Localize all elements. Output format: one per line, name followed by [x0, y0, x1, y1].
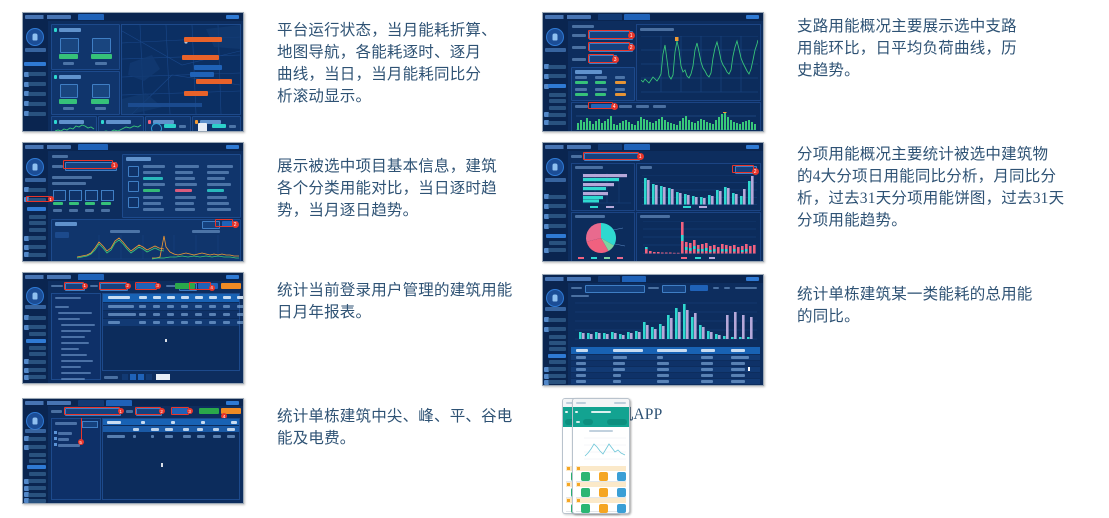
- org-logo-icon: [546, 158, 564, 176]
- last-page-button[interactable]: [146, 374, 152, 380]
- sidebar-item-5[interactable]: [28, 493, 46, 497]
- table-row[interactable]: [571, 355, 760, 360]
- callout-number-2: 2: [752, 168, 759, 175]
- phone-meter-card-2[interactable]: [576, 482, 626, 498]
- group-header: [141, 421, 145, 424]
- map-panel[interactable]: [121, 24, 241, 115]
- sidebar-subitem-3[interactable]: [29, 352, 46, 356]
- kpi-value-month: [212, 124, 226, 128]
- sidebar-item-1[interactable]: [548, 65, 566, 69]
- phone-screenshot-3[interactable]: [572, 398, 630, 514]
- tab-active[interactable]: [624, 144, 650, 150]
- table-row[interactable]: [571, 373, 760, 378]
- topbar-button[interactable]: [746, 15, 759, 20]
- toolbar-label-1: [571, 287, 582, 290]
- next-page-button[interactable]: [138, 374, 144, 380]
- toolbar-label-2: [126, 410, 133, 413]
- column-header: [195, 296, 203, 299]
- select-building[interactable]: [585, 285, 645, 293]
- toolbar-label-1: [51, 410, 62, 413]
- sidebar-item-4[interactable]: [28, 486, 46, 490]
- callout-number-2: 2: [125, 283, 131, 289]
- water-icon: [128, 181, 139, 192]
- callout-box-1: [64, 282, 84, 290]
- export-button[interactable]: [199, 408, 219, 414]
- tab-history-year: [636, 105, 649, 108]
- sidebar-item-5[interactable]: [548, 380, 566, 384]
- kpi-value-1: [59, 54, 78, 59]
- phone-back-icon[interactable]: [575, 411, 578, 413]
- history-bar-chart: [576, 112, 756, 130]
- tab-inactive[interactable]: [598, 144, 622, 150]
- cell: [175, 171, 193, 174]
- trend-title-left: [110, 230, 140, 233]
- tree-expand-icon[interactable]: [54, 443, 57, 446]
- sidebar-item-4[interactable]: [548, 374, 566, 378]
- toolbar-label-5: [735, 287, 757, 290]
- sidebar-item-1[interactable]: [28, 72, 46, 76]
- sidebar-item-6[interactable]: [28, 499, 46, 503]
- cell: [175, 165, 199, 168]
- sidebar-subitem-2[interactable]: [549, 99, 566, 103]
- pagination[interactable]: [102, 373, 240, 381]
- cell: [139, 321, 146, 324]
- screenshot-project-basic-info[interactable]: 1: [22, 142, 244, 262]
- green-status-icon: [581, 488, 590, 497]
- sidebar-item-3[interactable]: [548, 214, 566, 218]
- table-row[interactable]: [571, 361, 760, 366]
- callout-number-1: 1: [637, 153, 644, 160]
- cell: [731, 356, 749, 359]
- column-header: [576, 349, 588, 352]
- cell: [108, 305, 134, 308]
- sidebar-item-3[interactable]: [28, 360, 46, 364]
- building-tree[interactable]: [51, 418, 101, 500]
- tree-filter-button[interactable]: [82, 421, 98, 428]
- cell: [143, 189, 160, 192]
- callout-box-1: [588, 30, 630, 39]
- cell: [165, 435, 173, 438]
- sidebar-subitem-1[interactable]: [549, 93, 566, 97]
- tab-active[interactable]: [78, 274, 104, 280]
- callout-box-side: [26, 196, 50, 202]
- sidebar-item-4[interactable]: [28, 102, 46, 106]
- stat-1: [53, 202, 63, 205]
- sidebar-subitem-1[interactable]: [549, 241, 566, 245]
- cell: [207, 177, 225, 180]
- sidebar-subitem-1[interactable]: [29, 215, 46, 219]
- app-topbar: [23, 13, 243, 21]
- cell: [207, 183, 231, 186]
- warning-icon: [567, 483, 570, 486]
- tree-toolbar: [55, 422, 77, 425]
- tree-expand-icon[interactable]: [54, 437, 57, 440]
- tab-active[interactable]: [622, 276, 646, 282]
- topbar-button[interactable]: [226, 145, 239, 150]
- screenshot-energy-report[interactable]: 1 2 3 4: [22, 272, 244, 384]
- phone-meter-card-3[interactable]: [576, 498, 626, 512]
- column-header: [181, 296, 189, 299]
- phone-card-header: [576, 498, 626, 503]
- sidebar-subitem-2[interactable]: [549, 341, 566, 345]
- tab-inactive[interactable]: [78, 400, 104, 406]
- callout-box-1: [63, 160, 113, 169]
- app-logo-icon: [545, 15, 591, 19]
- filter-label-2: [572, 46, 586, 49]
- card-bullet-icon: [54, 28, 57, 32]
- table-row[interactable]: [571, 379, 760, 384]
- yoy-table[interactable]: [571, 347, 760, 383]
- sidebar-item-subitem[interactable]: [546, 234, 566, 238]
- cell: [195, 313, 202, 316]
- select-type[interactable]: [662, 285, 686, 293]
- tab-inactive[interactable]: [598, 14, 622, 20]
- sidebar-item-2[interactable]: [548, 204, 566, 208]
- sidebar-subitem-2[interactable]: [29, 221, 46, 225]
- column-header: [223, 296, 231, 299]
- topbar-button[interactable]: [746, 277, 759, 282]
- callout-box-3: [171, 407, 189, 415]
- map-pin-4[interactable]: [190, 72, 214, 77]
- column-header: [731, 349, 745, 352]
- mouse-cursor: [161, 463, 163, 467]
- cell: [576, 380, 586, 383]
- cell: [181, 321, 188, 324]
- callout-number-3: 3: [187, 408, 193, 414]
- sidebar-subitem-1[interactable]: [29, 453, 46, 457]
- app-logo-icon: [545, 277, 591, 281]
- kpi-value-2: [91, 54, 112, 59]
- kpi-label-e: [595, 88, 607, 91]
- kpi-label-b: [595, 76, 607, 79]
- sidebar-item-home[interactable]: [24, 62, 46, 66]
- cell: [223, 305, 230, 308]
- kpi-card-energy: [51, 24, 120, 70]
- topbar-button[interactable]: [226, 401, 239, 406]
- sidebar-item-1[interactable]: [28, 316, 46, 320]
- sidebar-item-2[interactable]: [28, 82, 46, 86]
- sidebar-item-2[interactable]: [28, 325, 46, 329]
- phone-filter-bar[interactable]: [573, 417, 629, 427]
- kpi-d: [575, 93, 588, 96]
- sidebar-item-1[interactable]: [548, 195, 566, 199]
- cell: [223, 321, 230, 324]
- callout-box-3: [588, 54, 614, 63]
- orange-status-icon: [599, 504, 608, 513]
- sidebar: [543, 283, 568, 385]
- trend-legend-button[interactable]: [55, 232, 69, 238]
- sidebar-item-4[interactable]: [548, 121, 566, 125]
- cell: [195, 305, 202, 308]
- callout-box-2: [99, 282, 127, 290]
- card-bullet-icon: [54, 120, 57, 124]
- sidebar-item-5[interactable]: [28, 253, 46, 257]
- query-button[interactable]: [690, 285, 708, 291]
- callout-number-3: 3: [612, 56, 619, 63]
- phone-meter-card-1[interactable]: [576, 466, 626, 482]
- kpi-c: [615, 81, 626, 84]
- calendar-icon: [198, 123, 207, 132]
- group-header: [201, 421, 205, 424]
- cell: [143, 177, 163, 180]
- column-header: [613, 349, 643, 352]
- map-pin-1[interactable]: [184, 37, 222, 42]
- map-pin-2[interactable]: [182, 55, 219, 60]
- sidebar-item-project[interactable]: [27, 207, 46, 211]
- sidebar-item-5[interactable]: [548, 248, 566, 252]
- mini-line-chart: [55, 124, 95, 132]
- tree-node: [58, 312, 92, 315]
- tab-active[interactable]: [78, 14, 104, 20]
- callout-box-4: [189, 282, 211, 290]
- screenshot-platform-overview[interactable]: [22, 12, 244, 132]
- caption-energy-report: 统计当前登录用户管理的建筑用能 日月年报表。: [277, 280, 532, 324]
- stat-label-1: [53, 209, 62, 212]
- phone-tab-pill[interactable]: [583, 419, 593, 425]
- sidebar-item-report[interactable]: [26, 339, 46, 343]
- table-header-sub-row: [103, 426, 239, 432]
- cell: [207, 165, 233, 168]
- feature-row-4b: 手机APP: [562, 398, 722, 426]
- sidebar-item-3[interactable]: [548, 113, 566, 117]
- org-logo-icon: [26, 158, 44, 176]
- kpi-a: [575, 81, 588, 84]
- month-bar-chart: [642, 175, 757, 205]
- water-icon: [92, 38, 111, 53]
- tab-active[interactable]: [78, 144, 108, 150]
- legend-swatch-3: [709, 257, 715, 260]
- sidebar-item-2[interactable]: [28, 445, 46, 449]
- sidebar-item-active[interactable]: [548, 354, 566, 358]
- cell: [175, 189, 192, 192]
- sidebar-item-3[interactable]: [28, 236, 46, 240]
- sidebar-item-4[interactable]: [548, 224, 566, 228]
- tree-node: [55, 306, 69, 309]
- cell: [207, 208, 231, 211]
- cell: [731, 368, 745, 371]
- table-row[interactable]: [571, 367, 760, 372]
- cell: [175, 196, 196, 199]
- tab-active[interactable]: [624, 14, 650, 20]
- column-header: [657, 349, 687, 352]
- callout-box-3: [135, 282, 157, 290]
- sidebar-subitem-3[interactable]: [29, 228, 46, 232]
- table-header-group-row: [103, 419, 239, 425]
- cell: [213, 435, 221, 438]
- subitem-trend-panel: [636, 212, 761, 262]
- topbar-button[interactable]: [746, 145, 759, 150]
- sidebar-item-5[interactable]: [28, 112, 46, 116]
- sidebar-item-branch[interactable]: [548, 84, 566, 88]
- callout-number-3: 3: [155, 283, 161, 289]
- daily-yoy-panel: [571, 163, 635, 211]
- sidebar-subitem-2[interactable]: [29, 346, 46, 350]
- cell: [731, 380, 745, 383]
- sidebar-item-1[interactable]: [28, 437, 46, 441]
- column-header: [151, 428, 159, 431]
- app-topbar: [543, 13, 763, 21]
- chart-title: [575, 166, 603, 169]
- screenshot-sub-item-energy-overview[interactable]: 1: [542, 142, 764, 262]
- cell: [207, 189, 224, 192]
- sidebar-item-5[interactable]: [28, 375, 46, 379]
- cell: [143, 183, 165, 186]
- sidebar-item-3[interactable]: [548, 367, 566, 371]
- callout-number-2: 2: [159, 408, 165, 414]
- building-tree[interactable]: [51, 293, 101, 380]
- orange-status-icon: [599, 472, 608, 481]
- cell: [237, 321, 244, 324]
- settings-button[interactable]: [221, 283, 241, 289]
- screenshot-branch-energy-overview[interactable]: 1 2 3: [542, 12, 764, 132]
- sidebar-subitem-4[interactable]: [549, 360, 566, 364]
- phone-card-header: [576, 482, 626, 487]
- toolbar-label-4: [724, 287, 730, 290]
- mouse-cursor: [748, 367, 750, 371]
- cell: [731, 362, 745, 365]
- group-header: [107, 421, 121, 424]
- sidebar-item-4[interactable]: [28, 368, 46, 372]
- cell: [209, 313, 216, 316]
- report-table[interactable]: [102, 293, 240, 371]
- map-pin-5[interactable]: [196, 79, 232, 84]
- kpi-f: [615, 93, 626, 96]
- phone-back-icon[interactable]: [565, 411, 568, 413]
- meter-icon: [69, 190, 82, 201]
- sidebar-item-1[interactable]: [548, 318, 566, 322]
- topbar-button[interactable]: [226, 15, 239, 20]
- org-name: [545, 307, 566, 311]
- tree-node: [61, 360, 93, 363]
- page-1-button[interactable]: [130, 374, 136, 380]
- callout-number-4: 4: [209, 285, 215, 291]
- prev-page-button[interactable]: [122, 374, 128, 380]
- column-header: [701, 349, 715, 352]
- group-header: [231, 421, 237, 424]
- tab-active[interactable]: [106, 400, 132, 406]
- toolbar-label-3: [713, 287, 719, 290]
- table-row[interactable]: [103, 303, 239, 310]
- screenshot-single-building-yoy[interactable]: [542, 274, 764, 386]
- legend-swatch-1: [683, 206, 691, 209]
- sidebar-item-4[interactable]: [28, 245, 46, 249]
- org-name: [25, 48, 46, 52]
- app-topbar: [23, 143, 243, 151]
- orange-status-icon: [599, 488, 608, 497]
- dashboard-content: [48, 21, 243, 131]
- card-heading: [59, 28, 82, 32]
- cell: [167, 305, 174, 308]
- cell: [175, 208, 195, 211]
- kpi-unit: [229, 125, 236, 128]
- cell: [197, 435, 205, 438]
- branch-kpi-grid: [571, 67, 635, 101]
- sidebar-subitem-3[interactable]: [29, 472, 46, 476]
- cell: [107, 435, 125, 438]
- sidebar-subitem-3[interactable]: [549, 106, 566, 110]
- sidebar-subitem-3[interactable]: [549, 347, 566, 351]
- screenshot-peak-valley-electricity[interactable]: 1 2 3 4: [22, 398, 244, 504]
- app-topbar: [543, 143, 763, 151]
- sidebar-item-3[interactable]: [28, 479, 46, 483]
- callout-box-1: [583, 152, 639, 160]
- callout-number-5: 5: [78, 439, 84, 445]
- cell: [657, 380, 669, 383]
- pie-chart: [575, 221, 631, 255]
- stat-4: [101, 202, 111, 205]
- cell: [175, 202, 194, 205]
- sidebar-item-2[interactable]: [548, 74, 566, 78]
- map-pin-6[interactable]: [184, 91, 208, 96]
- card-heading: [126, 157, 152, 161]
- sidebar-item-peak-valley[interactable]: [27, 465, 46, 469]
- chart-title: [575, 215, 605, 218]
- green-status-icon: [581, 472, 590, 481]
- table-row[interactable]: [103, 319, 239, 326]
- tree-node: [58, 444, 80, 447]
- cell: [701, 368, 713, 371]
- mini-line-chart: [102, 124, 142, 132]
- feature-row-2: 1: [22, 142, 527, 262]
- table-row[interactable]: [103, 433, 239, 439]
- cell: [207, 202, 229, 205]
- cell: [223, 313, 230, 316]
- app-logo-icon: [25, 275, 71, 279]
- sidebar-subitem-2[interactable]: [29, 459, 46, 463]
- sidebar-item-3[interactable]: [28, 92, 46, 96]
- caption-project-basic-info: 展示被选中项目基本信息，建筑 各个分类用能对比，当日逐时趋 势，当月逐日趋势。: [277, 156, 527, 222]
- page-size-select[interactable]: [156, 374, 170, 380]
- project-content: 1: [48, 151, 243, 261]
- sidebar-subitem-1[interactable]: [549, 335, 566, 339]
- map-pin-3[interactable]: [194, 65, 222, 70]
- toolbar-label-2: [90, 285, 98, 288]
- org-name: [25, 305, 46, 309]
- topbar-button[interactable]: [226, 275, 239, 280]
- peak-valley-table[interactable]: [102, 418, 240, 500]
- sidebar: [543, 21, 568, 131]
- tree-expand-icon[interactable]: [54, 431, 57, 434]
- phone-card-header: [576, 466, 626, 471]
- table-row[interactable]: [103, 311, 239, 318]
- legend-swatch-1: [681, 257, 687, 260]
- caption-sub-item-energy-overview: 分项用能概况主要统计被选中建筑物 的4大分项日用能同比分析，月同比分 析，过去3…: [797, 144, 1067, 232]
- peak-valley-content: 1 2 3 4: [48, 406, 243, 503]
- caption-single-building-yoy: 统计单栋建筑某一类能耗的总用能 的同比。: [797, 284, 1052, 328]
- chart-title: [640, 166, 652, 169]
- kpi-value-4: [91, 99, 109, 104]
- chart-card-hourly: [51, 116, 97, 132]
- sidebar-subitem-1[interactable]: [29, 332, 46, 336]
- feature-row-1b: 1 2 3: [542, 12, 1052, 132]
- warning-icon: [577, 499, 580, 502]
- phone-date-pill[interactable]: [607, 419, 627, 425]
- tab-inactive[interactable]: [598, 276, 620, 282]
- callout-box-2: [732, 165, 754, 173]
- app-logo-icon: [25, 145, 71, 149]
- table-header-row: [103, 294, 239, 302]
- cell: [175, 183, 197, 186]
- table-row[interactable]: [571, 385, 760, 386]
- tree-node: [61, 378, 85, 381]
- tree-node: [61, 372, 91, 375]
- app-topbar: [543, 275, 763, 283]
- cell: [576, 374, 586, 377]
- sidebar-item-2[interactable]: [548, 327, 566, 331]
- sidebar-item-1[interactable]: [28, 188, 46, 192]
- chart-title-load: [640, 28, 674, 31]
- callout-number-1: 1: [82, 283, 88, 289]
